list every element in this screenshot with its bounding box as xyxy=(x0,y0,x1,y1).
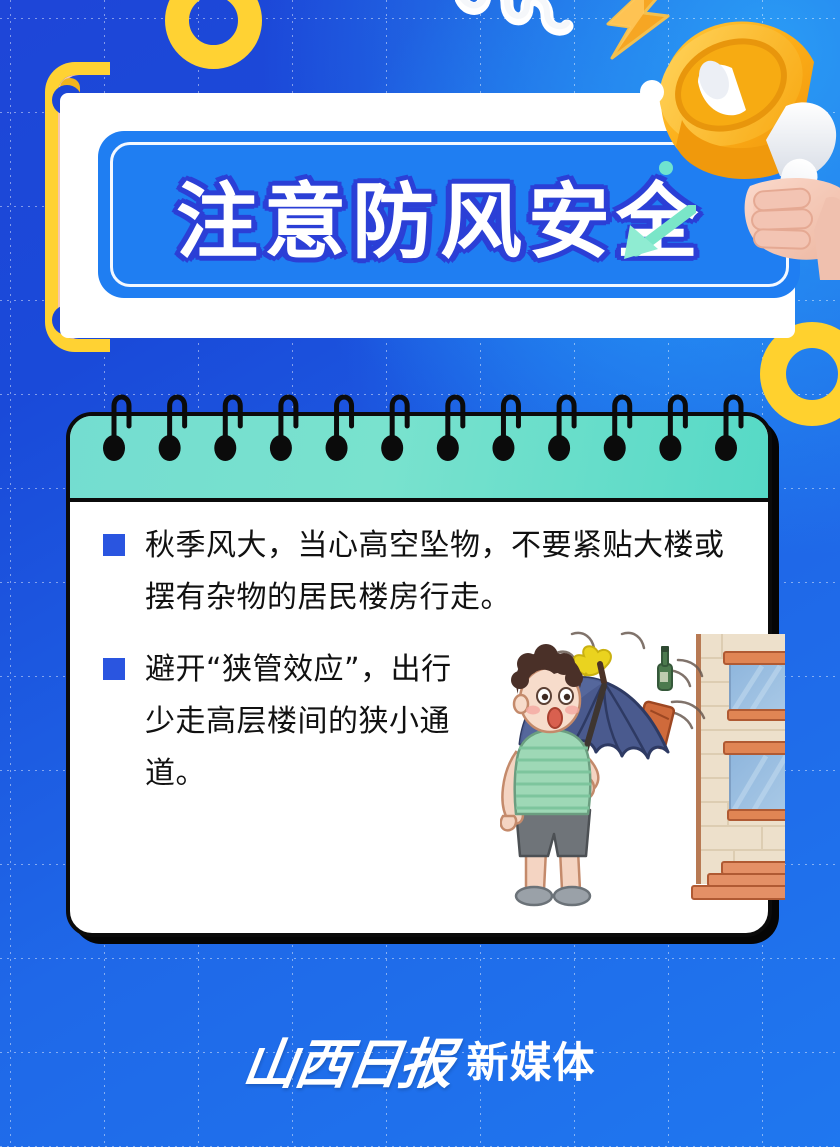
footer-logo: 山西日报 新媒体 xyxy=(0,1012,840,1107)
list-item: 秋季风大，当心高空坠物，不要紧贴大楼或摆有杂物的居民楼房行走。 xyxy=(66,520,772,624)
grid-line-v xyxy=(10,0,11,1147)
spiral-ring-dot xyxy=(326,435,348,461)
spiral-ring-dot xyxy=(492,435,514,461)
umbrella-person-illustration xyxy=(500,612,785,917)
megaphone-icon xyxy=(590,0,840,280)
falling-bottle xyxy=(658,646,672,690)
notebook-spiral-binding xyxy=(66,392,772,462)
grid-line-h xyxy=(0,958,840,959)
white-spiral-squiggle-icon xyxy=(455,0,575,52)
spiral-ring-dot xyxy=(270,435,292,461)
spiral-ring-dot xyxy=(715,435,737,461)
logo-script-text: 山西日报 xyxy=(239,1020,458,1099)
building xyxy=(692,634,785,899)
bullet-square-icon xyxy=(103,534,125,556)
spiral-ring-dot xyxy=(214,435,236,461)
spiral-ring-dot xyxy=(548,435,570,461)
spiral-ring-dot xyxy=(659,435,681,461)
spiral-ring-dot xyxy=(381,435,403,461)
logo-sub-text: 新媒体 xyxy=(466,1029,595,1090)
list-item-text: 避开“狭管效应”，出行少走高层楼间的狭小通道。 xyxy=(145,644,475,800)
poster-canvas: 注意防风安全 xyxy=(0,0,840,1147)
spiral-ring-dot xyxy=(437,435,459,461)
bullet-square-icon xyxy=(103,658,125,680)
spiral-ring-dot xyxy=(103,435,125,461)
spiral-ring-dot xyxy=(159,435,181,461)
spiral-ring-dot xyxy=(604,435,626,461)
list-item-text: 秋季风大，当心高空坠物，不要紧贴大楼或摆有杂物的居民楼房行走。 xyxy=(145,520,746,624)
